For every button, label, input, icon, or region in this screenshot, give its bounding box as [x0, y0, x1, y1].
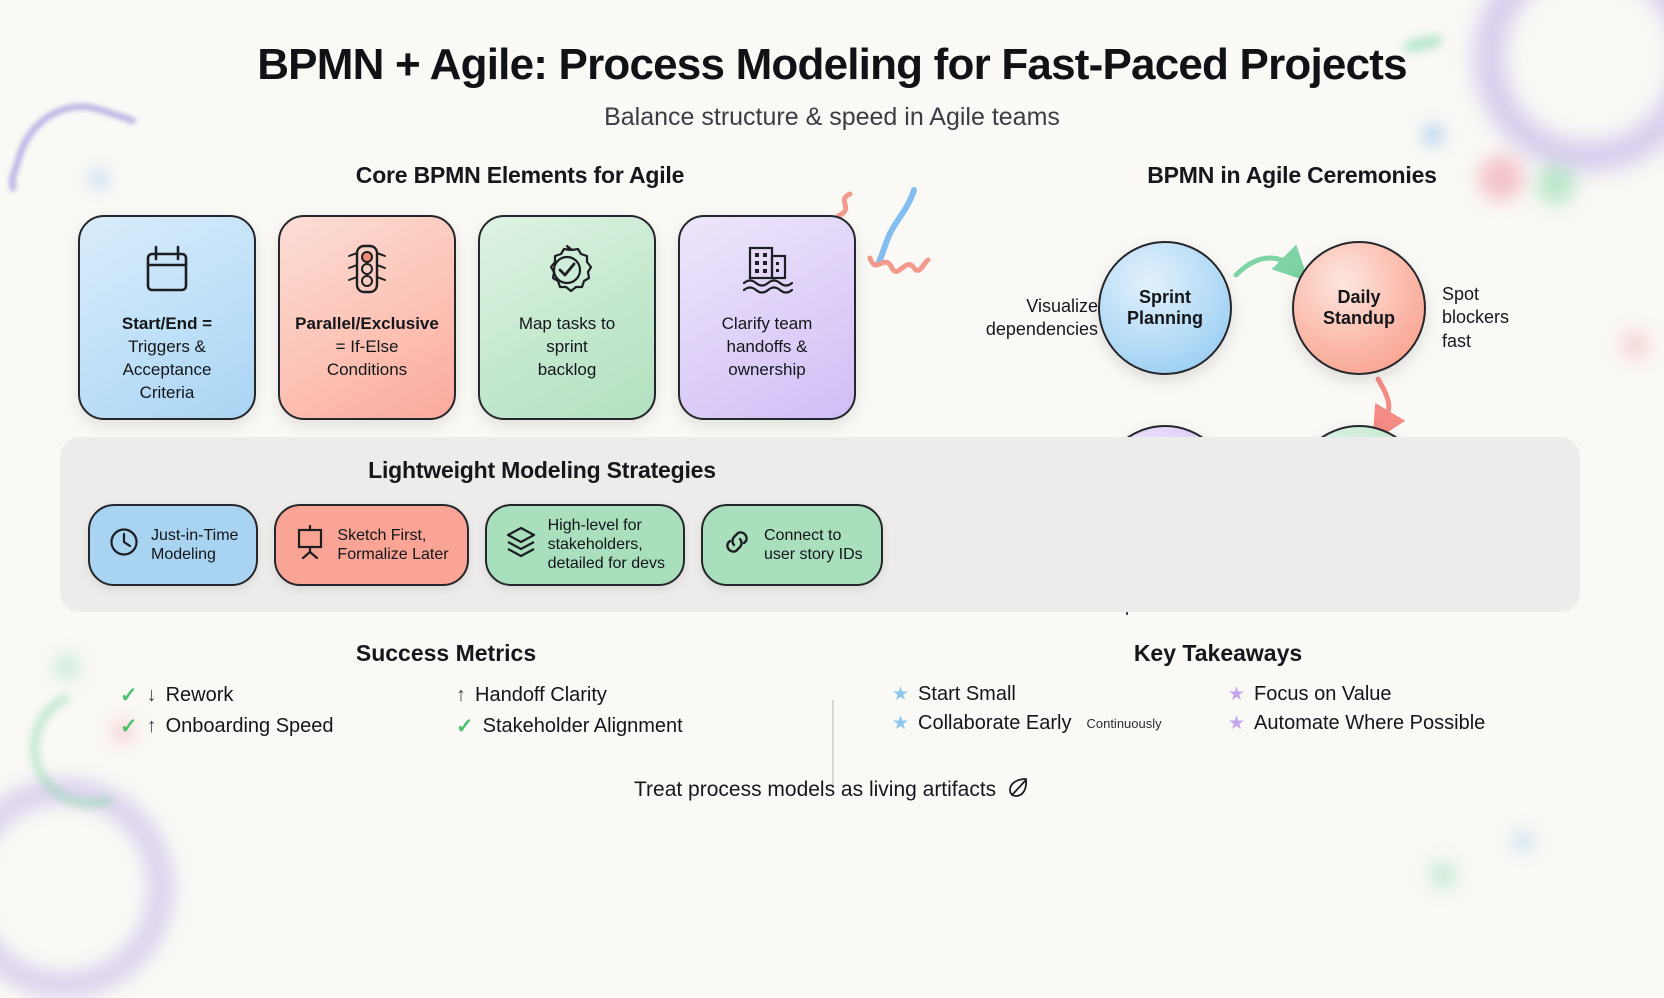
key-takeaway-label: Start Small [918, 683, 1016, 706]
success-metrics-section: Success Metrics ✓ ↓ Rework ↑ Handoff Cla… [60, 640, 832, 739]
success-metric-label: Handoff Clarity [475, 684, 607, 707]
footer-text: Treat process models as living artifacts [634, 778, 996, 801]
key-takeaways-section: Key Takeaways ★ Start Small ★ Focus on V… [832, 640, 1604, 739]
ceremony-node-label: Daily Standup [1323, 287, 1395, 329]
strategy-pill-label: High-level for stakeholders, detailed fo… [548, 516, 665, 574]
strategies-inner: Lightweight Modeling Strategies Just-in-… [82, 457, 1002, 586]
building-waves-icon [738, 239, 796, 301]
key-takeaways-heading: Key Takeaways [832, 640, 1604, 667]
strategy-pill-label: Connect to user story IDs [764, 526, 863, 564]
layers-icon [505, 525, 537, 564]
element-card-text: Map tasks to sprint backlog [511, 313, 623, 382]
success-metric-item: ↑ Handoff Clarity [456, 683, 772, 708]
strategies-band: Lightweight Modeling Strategies Just-in-… [60, 437, 1580, 612]
success-metric-item: ✓ ↓ Rework [120, 683, 436, 708]
calendar-icon [141, 239, 193, 301]
element-card-text: Parallel/Exclusive = If-Else Conditions [287, 313, 447, 382]
element-card-line2: handoffs & [727, 337, 808, 356]
ceremony-caption-visualize: Visualize dependencies [948, 295, 1098, 342]
key-takeaway-item: ★ Automate Where Possible [1228, 712, 1544, 735]
link-icon [721, 526, 753, 563]
success-metric-item: ✓ ↑ Onboarding Speed [120, 714, 436, 739]
element-card-line2: sprint [546, 337, 588, 356]
arrow-standup-to-refinement [1378, 379, 1389, 429]
ceremony-node-sprint-planning[interactable]: Sprint Planning [1098, 241, 1232, 375]
element-card-line3: backlog [538, 360, 597, 379]
clock-icon [108, 526, 140, 563]
ceremony-caption-spot: Spot blockers fast [1442, 283, 1572, 353]
element-card-line1: Parallel/Exclusive [295, 314, 439, 333]
trend-arrow-icon: ↑ [147, 715, 157, 738]
trend-arrow-icon: ↑ [456, 684, 466, 707]
leaf-icon [1006, 778, 1030, 801]
star-icon: ★ [1228, 712, 1245, 735]
strategy-pill-label: Just-in-Time Modeling [151, 526, 238, 564]
key-takeaways-list: ★ Start Small ★ Focus on Value ★ Collabo… [832, 683, 1604, 735]
element-card-start-end[interactable]: Start/End = Triggers & Acceptance Criter… [78, 215, 256, 420]
elements-section-heading: Core BPMN Elements for Agile [60, 162, 980, 189]
bottom-sections: Success Metrics ✓ ↓ Rework ↑ Handoff Cla… [0, 640, 1664, 739]
element-card-line3: ownership [728, 360, 806, 379]
success-metric-label: Onboarding Speed [166, 715, 334, 738]
success-metrics-list: ✓ ↓ Rework ↑ Handoff Clarity ✓ ↑ Onboard… [60, 683, 832, 739]
key-takeaway-item: ★ Collaborate Early Continuously [892, 712, 1208, 735]
element-card-line2: Triggers & [128, 337, 206, 356]
decorative-ring-bottom-left [0, 778, 174, 998]
key-takeaway-note: Continuously [1086, 716, 1161, 731]
decorative-dot-bottom-right-blue [1512, 830, 1534, 852]
key-takeaway-label: Focus on Value [1254, 683, 1392, 706]
success-metric-label: Rework [166, 684, 234, 707]
element-card-list: Start/End = Triggers & Acceptance Criter… [60, 215, 980, 420]
star-icon: ★ [1228, 683, 1245, 706]
header: BPMN + Agile: Process Modeling for Fast-… [0, 0, 1664, 132]
element-card-line4: Criteria [140, 383, 195, 402]
ceremony-node-label: Sprint Planning [1127, 287, 1203, 329]
success-metric-item: ✓ Stakeholder Alignment [456, 714, 772, 739]
strategy-pill-high-level[interactable]: High-level for stakeholders, detailed fo… [485, 504, 685, 586]
key-takeaway-label: Automate Where Possible [1254, 712, 1485, 735]
strategy-pill-list: Just-in-Time Modeling Sketch First, Form… [82, 504, 1002, 586]
key-takeaway-item: ★ Focus on Value [1228, 683, 1544, 706]
star-icon: ★ [892, 712, 909, 735]
element-card-line1: Map tasks to [519, 314, 615, 333]
ceremonies-section-heading: BPMN in Agile Ceremonies [980, 162, 1604, 189]
element-card-pools-lanes[interactable]: Clarify team handoffs & ownership [678, 215, 856, 420]
star-icon: ★ [892, 683, 909, 706]
strategy-pill-connect-ids[interactable]: Connect to user story IDs [701, 504, 883, 586]
traffic-light-icon [344, 239, 390, 301]
arrow-planning-to-standup [1236, 258, 1298, 275]
key-takeaway-item: ★ Start Small [892, 683, 1208, 706]
success-metrics-heading: Success Metrics [60, 640, 832, 667]
page-subtitle: Balance structure & speed in Agile teams [0, 103, 1664, 132]
strategy-pill-just-in-time[interactable]: Just-in-Time Modeling [88, 504, 258, 586]
element-card-gateways[interactable]: Parallel/Exclusive = If-Else Conditions [278, 215, 456, 420]
element-card-line2: = If-Else [336, 337, 399, 356]
strategy-pill-sketch-first[interactable]: Sketch First, Formalize Later [274, 504, 468, 586]
easel-icon [294, 525, 326, 564]
badge-check-icon [539, 239, 595, 301]
element-card-line1: Clarify team [722, 314, 813, 333]
ceremony-node-daily-standup[interactable]: Daily Standup [1292, 241, 1426, 375]
check-icon: ✓ [120, 683, 138, 708]
trend-arrow-icon: ↓ [147, 684, 157, 707]
element-card-line1: Start/End = [122, 314, 212, 333]
footer: Treat process models as living artifacts [0, 777, 1664, 802]
success-metric-label: Stakeholder Alignment [483, 715, 683, 738]
element-card-line3: Acceptance [123, 360, 212, 379]
key-takeaway-label: Collaborate Early [918, 712, 1071, 735]
check-icon: ✓ [120, 714, 138, 739]
page-title: BPMN + Agile: Process Modeling for Fast-… [0, 40, 1664, 90]
strategy-pill-label: Sketch First, Formalize Later [337, 526, 448, 564]
check-icon: ✓ [456, 714, 474, 739]
decorative-dot-bottom-right-green [1428, 860, 1458, 890]
strategies-heading: Lightweight Modeling Strategies [82, 457, 1002, 484]
element-card-line3: Conditions [327, 360, 407, 379]
element-card-text: Start/End = Triggers & Acceptance Criter… [114, 313, 220, 405]
element-card-text: Clarify team handoffs & ownership [714, 313, 821, 382]
element-card-tasks[interactable]: Map tasks to sprint backlog [478, 215, 656, 420]
